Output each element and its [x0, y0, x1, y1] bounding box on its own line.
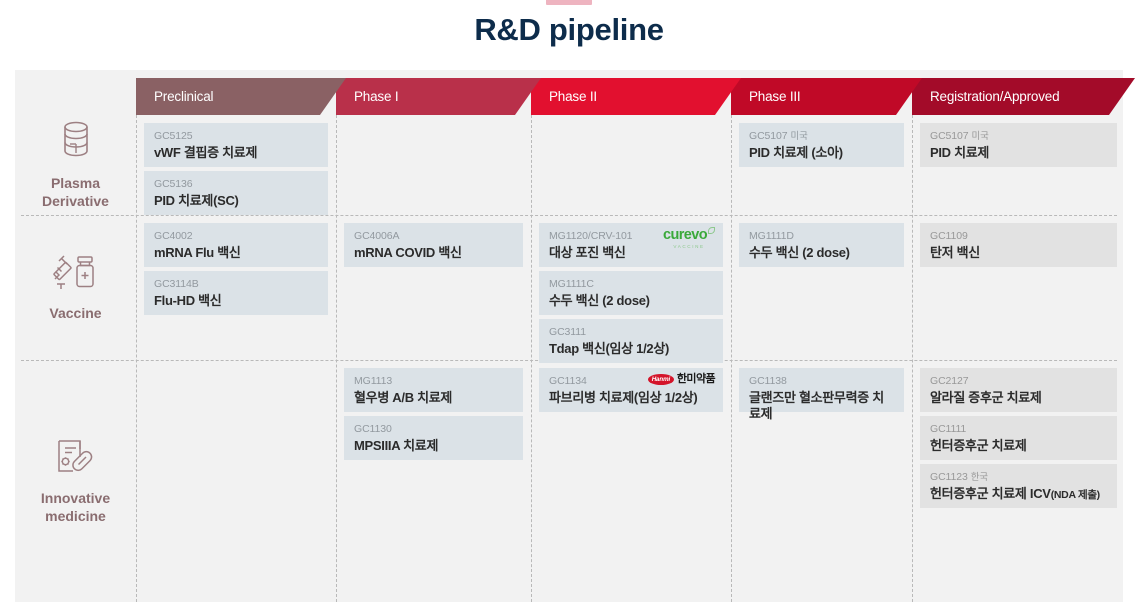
- card-code: MG1113: [354, 375, 514, 387]
- pipeline-card[interactable]: MG1120/CRV-101대상 포진 백신curevoVACCINE: [539, 223, 723, 267]
- curevo-tagline: VACCINE: [673, 244, 704, 249]
- card-name-text: vWF 결핍증 치료제: [154, 145, 257, 160]
- pipeline-card[interactable]: GC2127알라질 증후군 치료제: [920, 368, 1117, 412]
- card-name: MPSIIIA 치료제: [354, 438, 514, 453]
- card-name: vWF 결핍증 치료제: [154, 145, 319, 160]
- card-code-text: GC1123: [930, 471, 968, 483]
- pipeline-card[interactable]: GC3114BFlu-HD 백신: [144, 271, 328, 315]
- card-code-text: GC4002: [154, 230, 193, 242]
- pipeline-card[interactable]: GC5136PID 치료제(SC): [144, 171, 328, 215]
- syringe-vial-icon: [51, 253, 101, 298]
- card-name-text: MPSIIIA 치료제: [354, 438, 438, 453]
- hanmi-name: 한미약품: [677, 373, 715, 386]
- category-vaccine: Vaccine: [15, 215, 136, 360]
- card-code: MG1111C: [549, 278, 714, 290]
- card-code-text: MG1113: [354, 375, 392, 387]
- card-code-text: GC5107: [930, 130, 969, 142]
- phase-header-phase-iii[interactable]: Phase III: [731, 78, 922, 115]
- phase-header-label: Phase II: [549, 89, 597, 104]
- card-code: GC1138: [749, 375, 895, 387]
- card-name-text: PID 치료제: [930, 145, 989, 160]
- pipeline-card[interactable]: GC1109탄저 백신: [920, 223, 1117, 267]
- page-title: R&D pipeline: [0, 12, 1138, 48]
- phase-header-row: PreclinicalPhase IPhase IIPhase IIIRegis…: [15, 78, 1123, 115]
- card-name: 글랜즈만 혈소판무력증 치료제: [749, 390, 895, 421]
- card-name-text: 수두 백신 (2 dose): [549, 293, 650, 308]
- card-code: GC1123한국: [930, 471, 1108, 483]
- card-code-text: GC1109: [930, 230, 968, 242]
- card-code-text: GC5125: [154, 130, 193, 142]
- category-plasma: Plasma Derivative: [15, 115, 136, 215]
- plasma-bottle-icon: [58, 120, 94, 169]
- pipeline-card[interactable]: GC1130MPSIIIA 치료제: [344, 416, 523, 460]
- phase-header-phase-i[interactable]: Phase I: [336, 78, 541, 115]
- curevo-leaf-icon: [708, 227, 715, 234]
- card-name: mRNA Flu 백신: [154, 245, 319, 260]
- card-code-text: MG1120/CRV-101: [549, 230, 632, 242]
- card-name-text: PID 치료제 (소아): [749, 145, 843, 160]
- card-name-text: Tdap 백신(임상 1/2상): [549, 341, 669, 356]
- card-code: GC3114B: [154, 278, 319, 290]
- card-name-text: 글랜즈만 혈소판무력증 치료제: [749, 390, 884, 420]
- card-name: 헌터증후군 치료제 ICV(NDA 제출): [930, 486, 1108, 501]
- category-innovative: Innovative medicine: [15, 360, 136, 602]
- pipeline-card[interactable]: GC3111Tdap 백신(임상 1/2상): [539, 319, 723, 363]
- card-code-text: GC3111: [549, 326, 586, 338]
- phase-header-label: Preclinical: [154, 89, 213, 104]
- card-name: Tdap 백신(임상 1/2상): [549, 341, 714, 356]
- card-code: GC4002: [154, 230, 319, 242]
- card-code: GC2127: [930, 375, 1108, 387]
- card-note: (NDA 제출): [1051, 489, 1100, 501]
- card-name-text: 혈우병 A/B 치료제: [354, 390, 452, 405]
- pipeline-board: PreclinicalPhase IPhase IIPhase IIIRegis…: [15, 70, 1123, 602]
- card-name: 파브리병 치료제(임상 1/2상): [549, 390, 714, 405]
- pipeline-card[interactable]: GC5107미국PID 치료제 (소아): [739, 123, 904, 167]
- pipeline-card[interactable]: GC5107미국PID 치료제: [920, 123, 1117, 167]
- phase-header-label: Phase III: [749, 89, 800, 104]
- card-name-text: PID 치료제(SC): [154, 193, 239, 208]
- pipeline-card[interactable]: GC4002mRNA Flu 백신: [144, 223, 328, 267]
- card-name: PID 치료제: [930, 145, 1108, 160]
- document-pill-icon: [52, 437, 100, 484]
- pipeline-card[interactable]: GC1138글랜즈만 혈소판무력증 치료제: [739, 368, 904, 412]
- pipeline-card[interactable]: GC1111헌터증후군 치료제: [920, 416, 1117, 460]
- pipeline-grid: Plasma Derivative Vaccine Innovative med…: [15, 115, 1123, 602]
- card-code-text: MG1111C: [549, 278, 594, 290]
- card-code-text: MG1111D: [749, 230, 794, 242]
- card-code: GC3111: [549, 326, 714, 338]
- card-code-text: GC5107: [749, 130, 788, 142]
- card-name: PID 치료제 (소아): [749, 145, 895, 160]
- card-code-text: GC1111: [930, 423, 966, 435]
- card-name-text: mRNA COVID 백신: [354, 245, 462, 260]
- card-code: GC5125: [154, 130, 319, 142]
- pipeline-card[interactable]: MG1113혈우병 A/B 치료제: [344, 368, 523, 412]
- card-region: 미국: [972, 131, 989, 142]
- phase-header-preclinical[interactable]: Preclinical: [136, 78, 346, 115]
- hanmi-logo: Hanmi한미약품: [648, 373, 715, 386]
- card-code-text: GC3114B: [154, 278, 199, 290]
- card-name-text: 헌터증후군 치료제 ICV: [930, 486, 1051, 501]
- card-name: 알라질 증후군 치료제: [930, 390, 1108, 405]
- card-code: GC1130: [354, 423, 514, 435]
- card-name-text: 알라질 증후군 치료제: [930, 390, 1042, 405]
- card-name: PID 치료제(SC): [154, 193, 319, 208]
- card-region: 한국: [971, 472, 988, 483]
- phase-header-label: Phase I: [354, 89, 398, 104]
- card-name-text: Flu-HD 백신: [154, 293, 221, 308]
- card-code-text: GC5136: [154, 178, 193, 190]
- card-name: mRNA COVID 백신: [354, 245, 514, 260]
- pipeline-card[interactable]: GC5125vWF 결핍증 치료제: [144, 123, 328, 167]
- card-region: 미국: [791, 131, 808, 142]
- rd-pipeline-page: R&D pipeline PreclinicalPhase IPhase IIP…: [0, 0, 1138, 606]
- pipeline-card[interactable]: GC4006AmRNA COVID 백신: [344, 223, 523, 267]
- card-code: GC5107미국: [930, 130, 1108, 142]
- pipeline-card[interactable]: MG1111D수두 백신 (2 dose): [739, 223, 904, 267]
- card-name: 탄저 백신: [930, 245, 1108, 260]
- card-code: GC5107미국: [749, 130, 895, 142]
- card-code-text: GC1130: [354, 423, 392, 435]
- category-label: Plasma Derivative: [42, 175, 109, 210]
- card-code-text: GC2127: [930, 375, 969, 387]
- curevo-wordmark: curevo: [663, 228, 715, 243]
- card-name: 수두 백신 (2 dose): [749, 245, 895, 260]
- curevo-logo: curevoVACCINE: [663, 228, 715, 249]
- card-code-text: GC4006A: [354, 230, 399, 242]
- card-code: MG1111D: [749, 230, 895, 242]
- phase-header-label: Registration/Approved: [930, 89, 1059, 104]
- pipeline-card[interactable]: MG1111C수두 백신 (2 dose): [539, 271, 723, 315]
- card-code-text: GC1134: [549, 375, 587, 387]
- card-name-text: 헌터증후군 치료제: [930, 438, 1027, 453]
- pipeline-card[interactable]: GC1134파브리병 치료제(임상 1/2상)Hanmi한미약품: [539, 368, 723, 412]
- card-name-text: 탄저 백신: [930, 245, 980, 260]
- top-accent-bar: [546, 0, 592, 5]
- card-name: 헌터증후군 치료제: [930, 438, 1108, 453]
- card-name: 혈우병 A/B 치료제: [354, 390, 514, 405]
- card-name: Flu-HD 백신: [154, 293, 319, 308]
- card-code: GC1109: [930, 230, 1108, 242]
- card-code: GC4006A: [354, 230, 514, 242]
- card-name-text: mRNA Flu 백신: [154, 245, 241, 260]
- card-name-text: 대상 포진 백신: [549, 245, 626, 260]
- category-label: Vaccine: [49, 305, 101, 323]
- phase-header-registration-approved[interactable]: Registration/Approved: [912, 78, 1135, 115]
- card-name-text: 파브리병 치료제(임상 1/2상): [549, 390, 697, 405]
- card-code: GC5136: [154, 178, 319, 190]
- card-code: GC1111: [930, 423, 1108, 435]
- phase-header-phase-ii[interactable]: Phase II: [531, 78, 741, 115]
- pipeline-card[interactable]: GC1123한국헌터증후군 치료제 ICV(NDA 제출): [920, 464, 1117, 508]
- hanmi-mark: Hanmi: [648, 374, 674, 385]
- card-name: 수두 백신 (2 dose): [549, 293, 714, 308]
- card-name-text: 수두 백신 (2 dose): [749, 245, 850, 260]
- card-code-text: GC1138: [749, 375, 787, 387]
- category-label: Innovative medicine: [41, 490, 110, 525]
